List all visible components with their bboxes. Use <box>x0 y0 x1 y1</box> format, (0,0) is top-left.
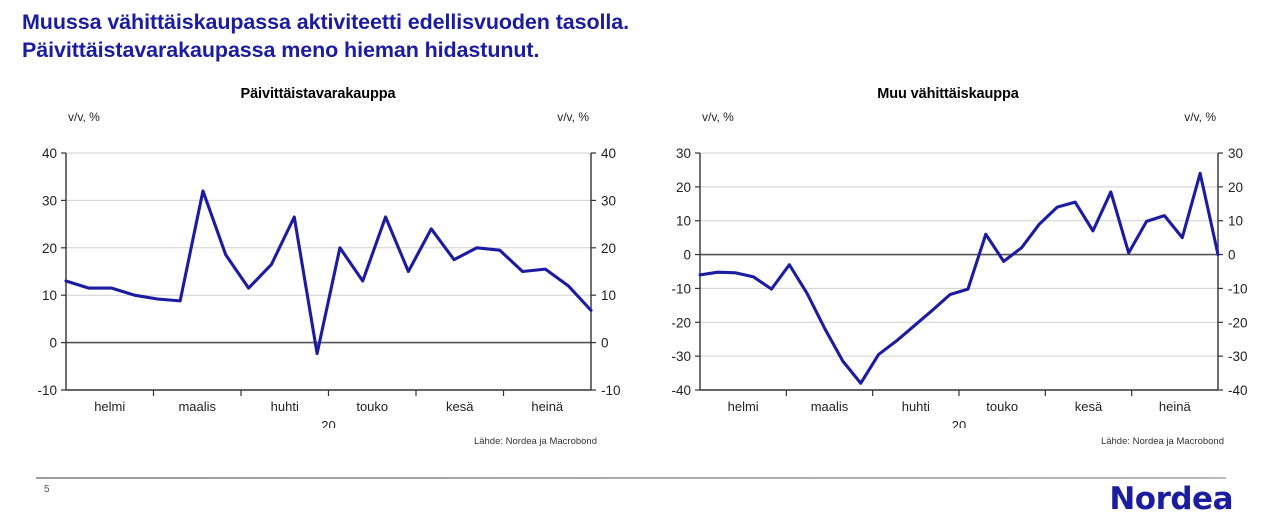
x-tick-label: kesä <box>446 399 474 414</box>
page-number: 5 <box>44 484 50 495</box>
chart-panel-paivittaistavarakauppa: Päivittäistavarakauppa v/v, % v/v, % -10… <box>8 84 628 459</box>
y-tick-label-right: 0 <box>1228 248 1236 263</box>
y-tick-label-left: -10 <box>671 281 691 296</box>
y-axis-unit-right: v/v, % <box>557 110 589 124</box>
y-tick-label-left: 30 <box>42 193 57 208</box>
series-line <box>66 191 591 354</box>
footer-divider <box>36 477 1226 479</box>
chart-title-right: Muu vähittäiskauppa <box>640 84 1256 102</box>
x-tick-label: touko <box>986 399 1018 414</box>
y-axis-unit-right: v/v, % <box>1184 110 1216 124</box>
y-tick-label-left: 0 <box>683 248 691 263</box>
x-tick-label: kesä <box>1075 399 1103 414</box>
x-tick-label: heinä <box>1159 399 1192 414</box>
source-note-right: Lähde: Nordea ja Macrobond <box>1101 436 1224 447</box>
headline-line-2: Päivittäistavarakaupassa meno hieman hid… <box>22 36 1202 64</box>
y-tick-label-right: -30 <box>1228 349 1248 364</box>
x-tick-label: helmi <box>728 399 759 414</box>
x-tick-label: huhti <box>271 399 299 414</box>
y-tick-label-left: 30 <box>676 146 691 161</box>
source-note-left: Lähde: Nordea ja Macrobond <box>474 436 597 447</box>
y-tick-label-right: 20 <box>601 241 616 256</box>
y-axis-unit-left: v/v, % <box>68 110 100 124</box>
y-tick-label-left: 10 <box>42 288 57 303</box>
y-tick-label-right: 30 <box>601 193 616 208</box>
plot-area-right: -40-40-30-30-20-20-10-1000101020203030he… <box>640 128 1256 428</box>
y-axis-unit-left: v/v, % <box>702 110 734 124</box>
headline-line-1: Muussa vähittäiskaupassa aktiviteetti ed… <box>22 8 1202 36</box>
x-tick-label: huhti <box>902 399 930 414</box>
x-tick-label: helmi <box>94 399 125 414</box>
y-tick-label-left: 20 <box>42 241 57 256</box>
y-tick-label-left: -30 <box>671 349 691 364</box>
x-tick-label: touko <box>356 399 388 414</box>
unit-row-left: v/v, % v/v, % <box>8 110 628 128</box>
x-axis-label: 20 <box>321 418 335 428</box>
plot-area-left: -10-10001010202030304040helmimaalishuhti… <box>8 128 628 428</box>
y-tick-label-right: 0 <box>601 336 609 351</box>
y-tick-label-left: 40 <box>42 146 57 161</box>
chart-title-left: Päivittäistavarakauppa <box>8 84 628 102</box>
unit-row-right: v/v, % v/v, % <box>640 110 1256 128</box>
y-tick-label-left: -40 <box>671 383 691 398</box>
y-tick-label-right: 30 <box>1228 146 1243 161</box>
y-tick-label-right: 40 <box>601 146 616 161</box>
x-tick-label: maalis <box>811 399 849 414</box>
chart-panel-muu-vahittaiskauppa: Muu vähittäiskauppa v/v, % v/v, % -40-40… <box>640 84 1256 459</box>
y-tick-label-right: -40 <box>1228 383 1248 398</box>
y-tick-label-right: -10 <box>601 383 621 398</box>
slide-headline: Muussa vähittäiskaupassa aktiviteetti ed… <box>22 8 1202 64</box>
y-tick-label-right: -20 <box>1228 315 1248 330</box>
nordea-logo: Nordea <box>1109 481 1233 517</box>
line-chart-right: -40-40-30-30-20-20-10-1000101020203030he… <box>640 128 1256 428</box>
y-tick-label-right: -10 <box>1228 281 1248 296</box>
y-tick-label-left: 10 <box>676 214 691 229</box>
line-chart-left: -10-10001010202030304040helmimaalishuhti… <box>8 128 628 428</box>
x-axis-label: 20 <box>952 418 966 428</box>
y-tick-label-left: -20 <box>671 315 691 330</box>
y-tick-label-right: 20 <box>1228 180 1243 195</box>
x-tick-label: maalis <box>178 399 216 414</box>
y-tick-label-left: -10 <box>37 383 57 398</box>
y-tick-label-left: 20 <box>676 180 691 195</box>
y-tick-label-right: 10 <box>1228 214 1243 229</box>
y-tick-label-left: 0 <box>49 336 57 351</box>
y-tick-label-right: 10 <box>601 288 616 303</box>
x-tick-label: heinä <box>531 399 564 414</box>
series-line <box>700 173 1218 383</box>
